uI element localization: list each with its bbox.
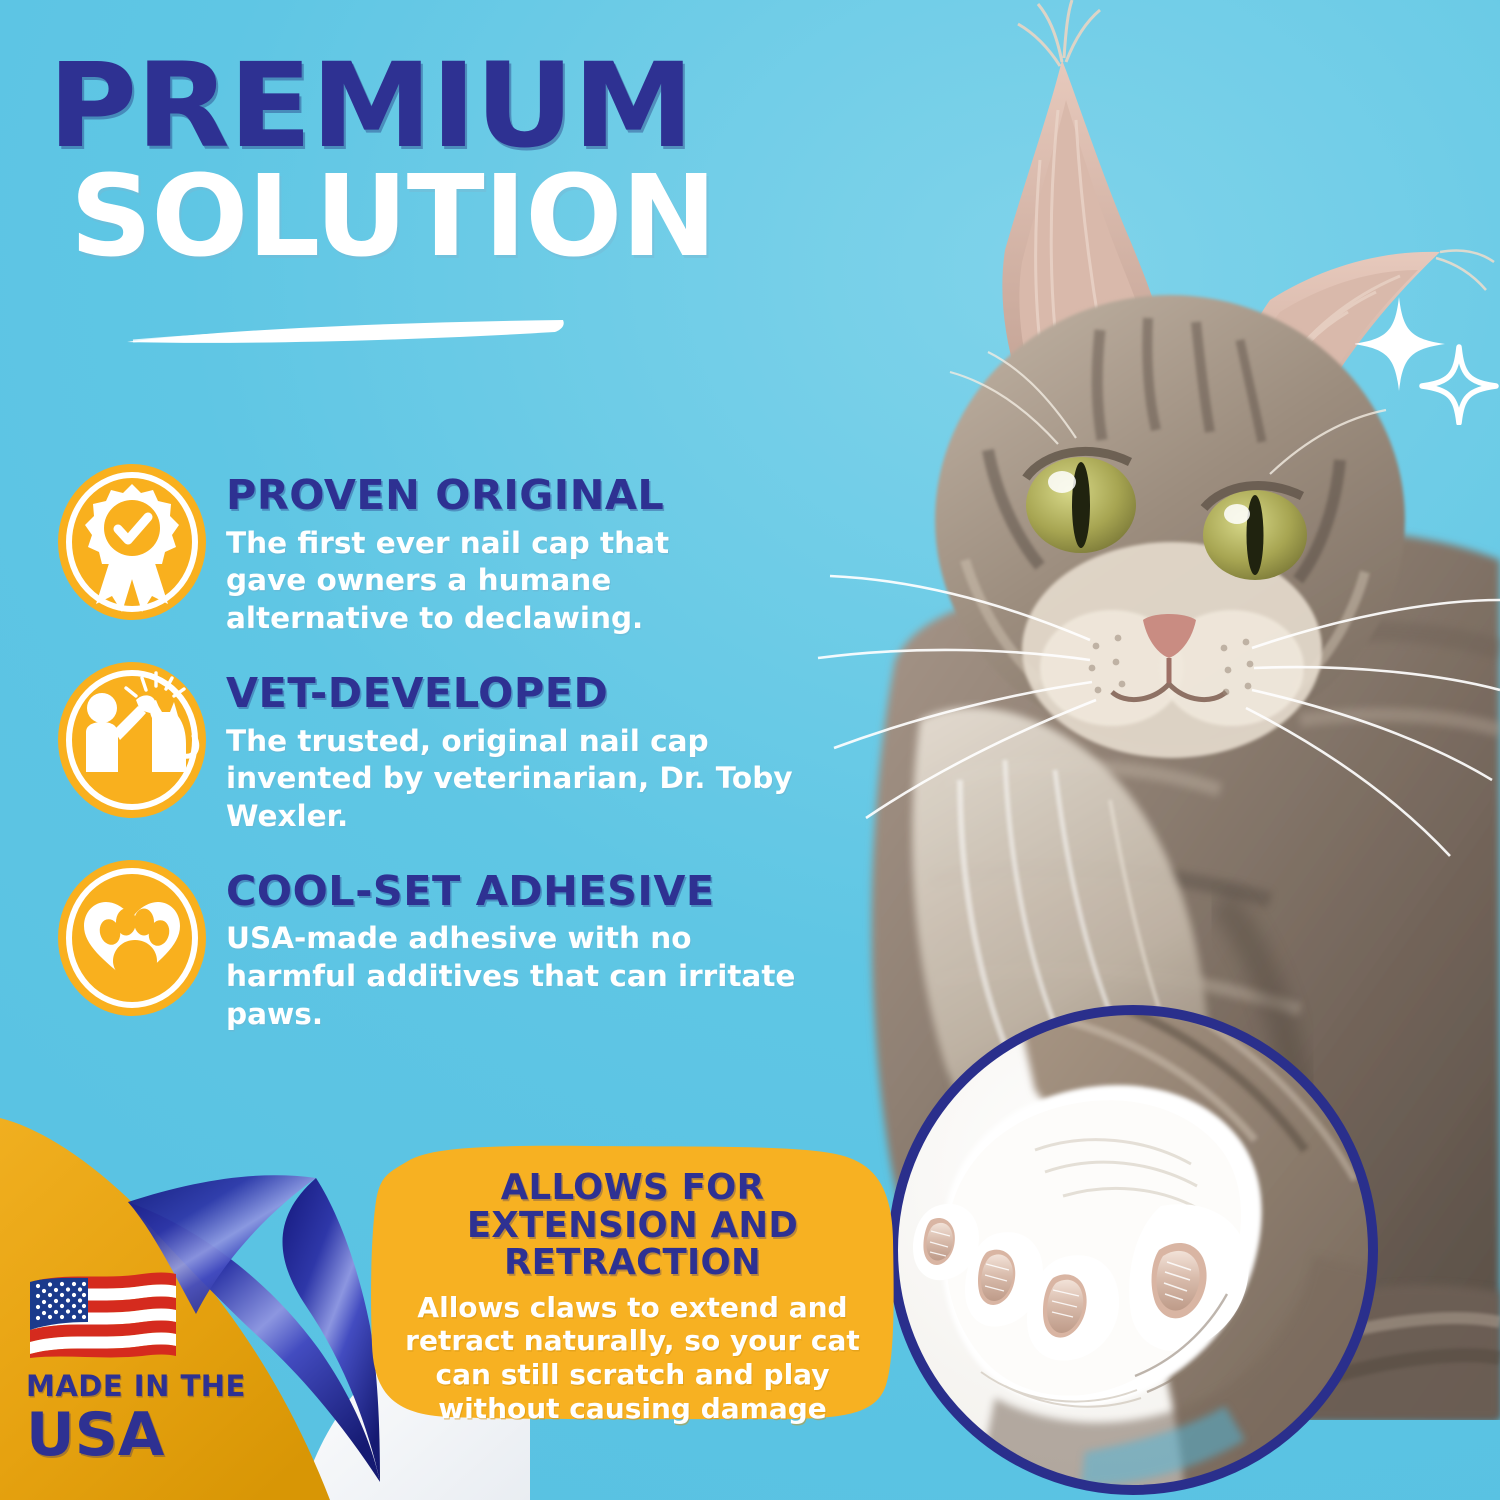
headline-solution: SOLUTION <box>70 164 864 270</box>
made-in-the-label: MADE IN THE <box>26 1372 246 1401</box>
sparkle-stars-icon <box>1355 295 1500 425</box>
feature-title: VET-DEVELOPED <box>226 672 852 715</box>
feature-description: USA-made adhesive with no harmful additi… <box>226 920 801 1033</box>
vet-highfive-cat-icon <box>56 660 208 820</box>
feature-description: The trusted, original nail cap invented … <box>226 723 826 836</box>
feature-item: PROVEN ORIGINAL The first ever nail cap … <box>56 462 846 638</box>
feature-title: COOL-SET ADHESIVE <box>226 870 852 913</box>
feature-description: The first ever nail cap that gave owners… <box>226 525 756 638</box>
callout-title: ALLOWS FOR EXTENSION AND RETRACTION <box>396 1169 869 1282</box>
usa-flag-icon <box>26 1266 178 1358</box>
callout-description: Allows claws to extend and retract natur… <box>396 1291 869 1425</box>
made-in-usa-badge: MADE IN THE USA <box>26 1266 246 1481</box>
product-infographic: PREMIUM SOLUTION <box>0 0 1500 1500</box>
feature-title: PROVEN ORIGINAL <box>226 474 852 517</box>
headline-underline-swoosh <box>125 318 565 348</box>
feature-item: VET-DEVELOPED The trusted, original nail… <box>56 660 846 836</box>
page-title: PREMIUM SOLUTION <box>48 52 848 270</box>
cat-paw-inset-photo <box>885 1000 1415 1500</box>
award-ribbon-icon <box>56 462 208 622</box>
feature-list: PROVEN ORIGINAL The first ever nail cap … <box>56 462 846 1056</box>
feature-item: COOL-SET ADHESIVE USA-made adhesive with… <box>56 858 846 1034</box>
heart-paw-icon <box>56 858 208 1018</box>
extension-retraction-callout: ALLOWS FOR EXTENSION AND RETRACTION Allo… <box>370 1145 895 1420</box>
usa-label: USA <box>26 1405 246 1465</box>
headline-premium: PREMIUM <box>48 52 880 160</box>
